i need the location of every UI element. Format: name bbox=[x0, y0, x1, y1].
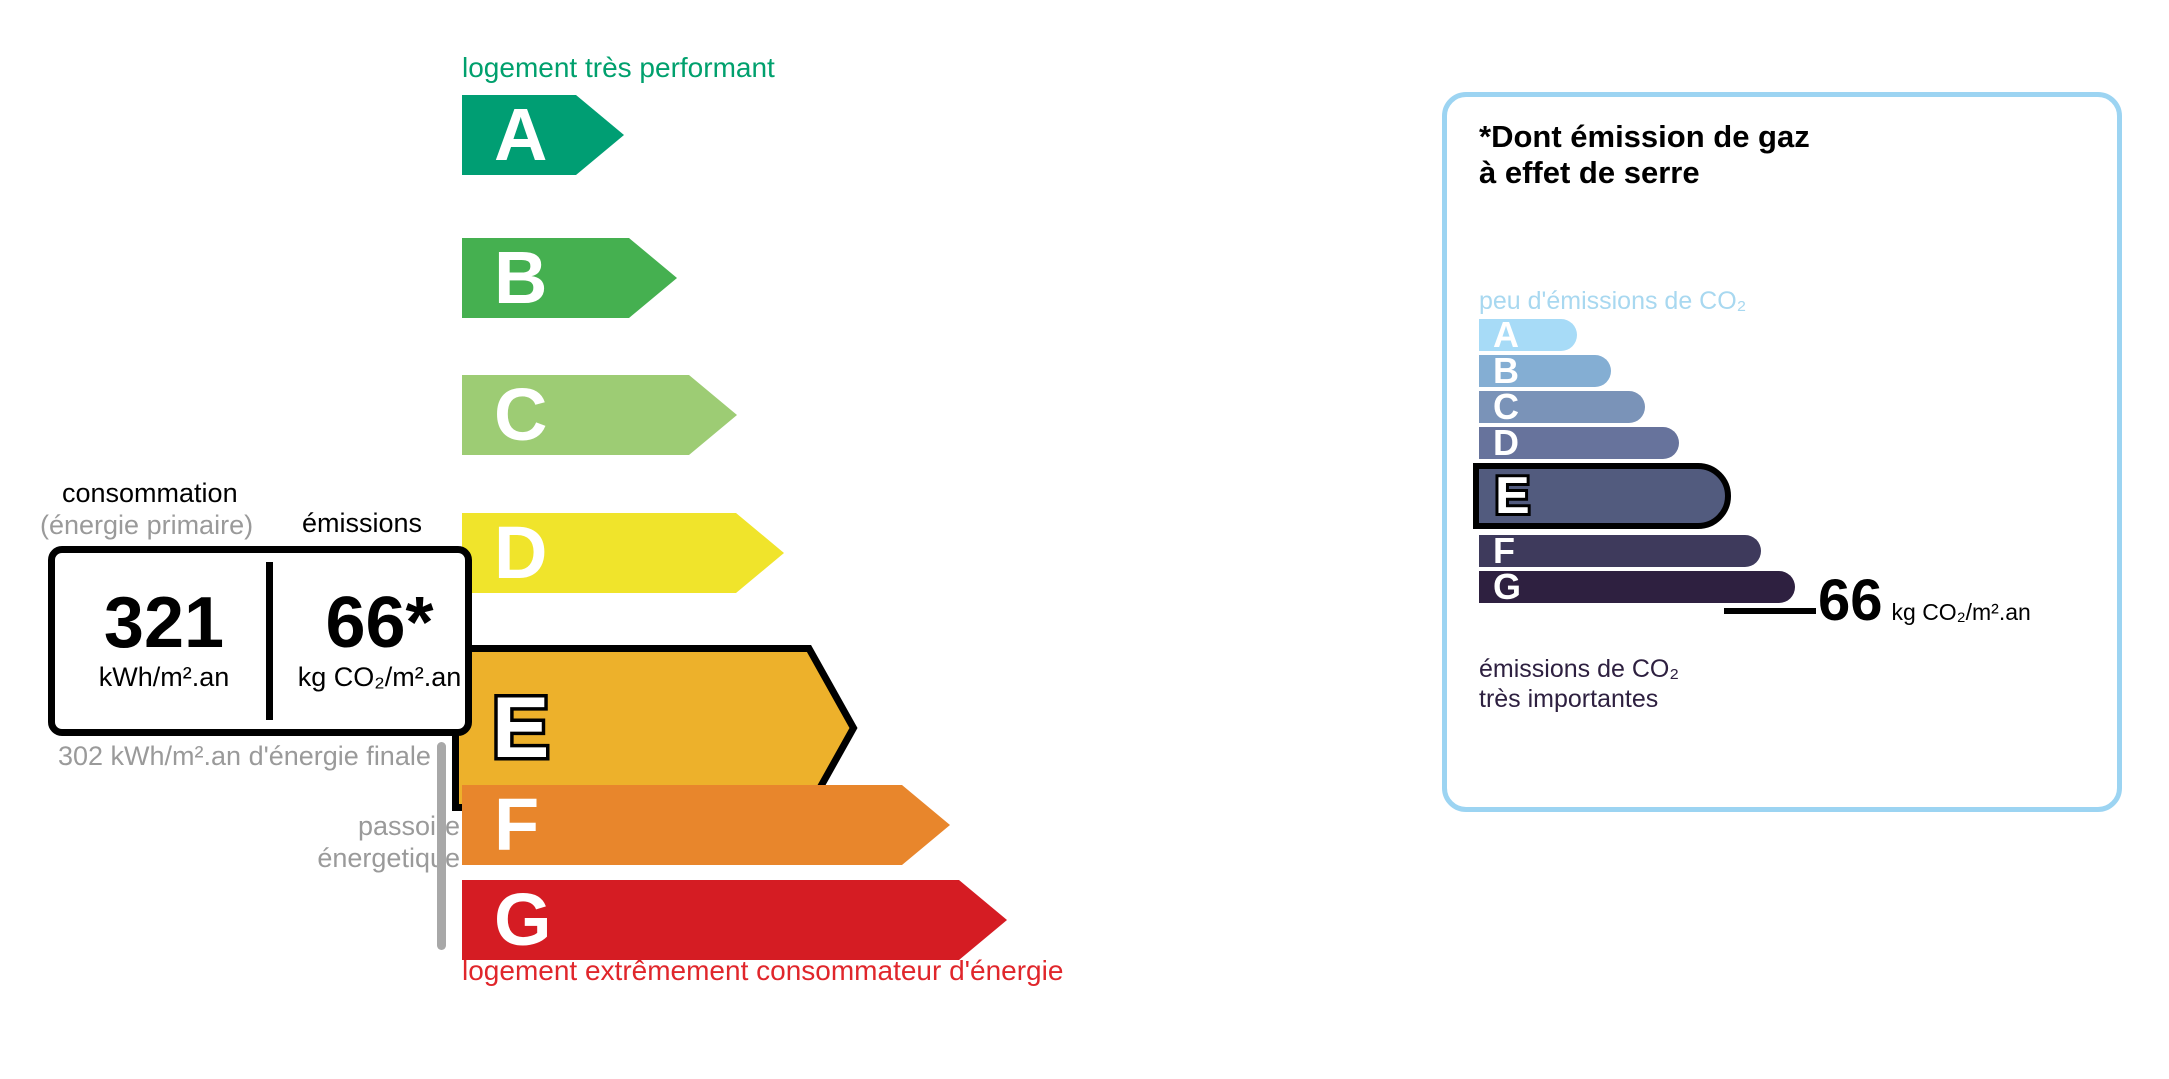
co2-callout-value: 66 bbox=[1818, 572, 1883, 630]
value-panel-divider bbox=[266, 562, 273, 720]
co2-letter-a: A bbox=[1493, 317, 1519, 353]
emission-value-cell: 66* kg CO₂/m².an bbox=[280, 553, 479, 729]
emissions-header: émissions bbox=[302, 508, 422, 539]
energy-bottom-caption: logement extrêmement consommateur d'éner… bbox=[462, 955, 1063, 987]
energy-row-a: A bbox=[462, 95, 624, 175]
energy-letter-c: C bbox=[494, 378, 547, 452]
final-energy-note: 302 kWh/m².an d'énergie finale bbox=[58, 740, 431, 772]
passoire-bracket-bar bbox=[437, 742, 446, 950]
co2-bottom-caption: émissions de CO₂ très importantes bbox=[1479, 654, 1679, 714]
energy-row-f: F bbox=[462, 785, 950, 865]
co2-panel: *Dont émission de gaz à effet de serre p… bbox=[1442, 92, 2122, 812]
co2-top-caption: peu d'émissions de CO₂ bbox=[1479, 287, 1746, 316]
consumption-value-cell: 321 kWh/m².an bbox=[55, 553, 273, 729]
consumption-header: consommation bbox=[62, 478, 238, 509]
co2-bar-d: D bbox=[1479, 427, 1679, 459]
energy-row-d: D bbox=[462, 513, 784, 593]
co2-callout-leader-line bbox=[1724, 608, 1816, 614]
emission-value: 66* bbox=[325, 589, 433, 657]
emission-unit: kg CO₂/m².an bbox=[298, 662, 462, 693]
energy-letter-a: A bbox=[494, 98, 547, 172]
value-panel: 321 kWh/m².an 66* kg CO₂/m².an bbox=[48, 546, 472, 736]
energy-row-c: C bbox=[462, 375, 737, 455]
energy-letter-b: B bbox=[494, 241, 547, 315]
co2-bar-a: A bbox=[1479, 319, 1577, 351]
passoire-energetique-label: passoire énergetique bbox=[280, 810, 460, 875]
co2-letter-f: F bbox=[1493, 533, 1515, 569]
co2-callout-unit: kg CO₂/m².an bbox=[1892, 599, 2031, 626]
energy-letter-f: F bbox=[494, 788, 539, 862]
co2-bar-b: B bbox=[1479, 355, 1611, 387]
energy-row-g: G bbox=[462, 880, 1007, 960]
co2-letter-g: G bbox=[1493, 569, 1521, 605]
consumption-unit: kWh/m².an bbox=[99, 662, 230, 693]
co2-callout: 66 kg CO₂/m².an bbox=[1818, 572, 2031, 630]
co2-letter-c: C bbox=[1493, 389, 1519, 425]
co2-bar-e: E bbox=[1473, 463, 1731, 529]
co2-letter-d: D bbox=[1493, 425, 1519, 461]
co2-bar-f: F bbox=[1479, 535, 1761, 567]
energy-performance-scale: logement très performant ABCDEFG logemen… bbox=[0, 0, 1400, 1079]
energy-row-b: B bbox=[462, 238, 677, 318]
energy-letter-e: E bbox=[492, 685, 549, 771]
co2-letter-b: B bbox=[1493, 353, 1519, 389]
co2-letter-e: E bbox=[1495, 470, 1530, 522]
energy-letter-g: G bbox=[494, 883, 552, 957]
consumption-subheader: (énergie primaire) bbox=[40, 510, 253, 541]
energy-top-caption: logement très performant bbox=[462, 52, 775, 84]
consumption-value: 321 bbox=[104, 589, 224, 657]
energy-letter-d: D bbox=[494, 516, 547, 590]
co2-panel-title: *Dont émission de gaz à effet de serre bbox=[1479, 119, 1810, 192]
co2-bar-g: G bbox=[1479, 571, 1795, 603]
co2-bar-c: C bbox=[1479, 391, 1645, 423]
